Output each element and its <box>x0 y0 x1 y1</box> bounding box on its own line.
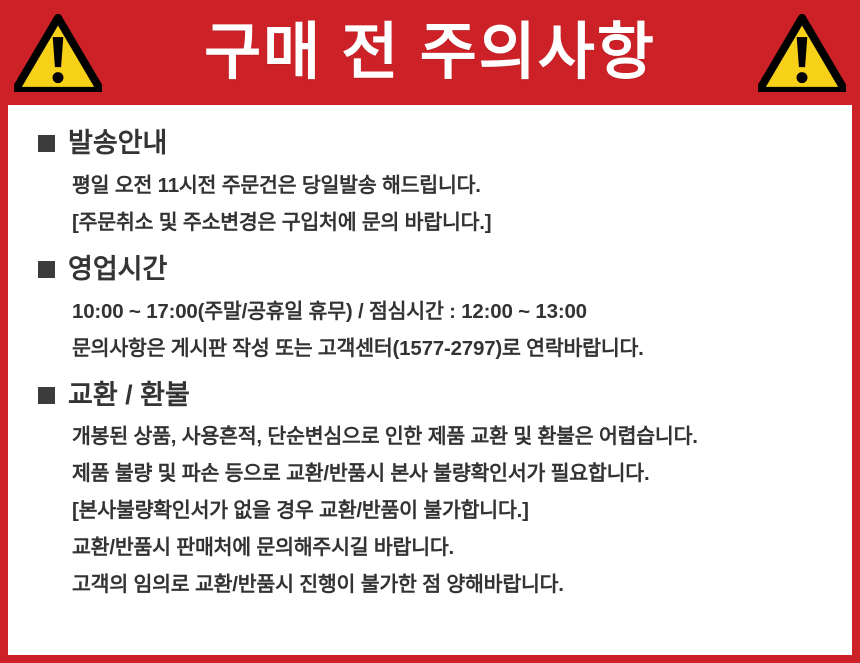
notice-line: 고객의 임의로 교환/반품시 진행이 불가한 점 양해바랍니다. <box>72 566 822 603</box>
section-exchange-refund: 교환 / 환불 개봉된 상품, 사용흔적, 단순변심으로 인한 제품 교환 및 … <box>38 379 822 604</box>
notice-line: 평일 오전 11시전 주문건은 당일발송 해드립니다. <box>72 167 822 204</box>
section-shipping: 발송안내 평일 오전 11시전 주문건은 당일발송 해드립니다. [주문취소 및… <box>38 127 822 241</box>
notice-line: 개봉된 상품, 사용흔적, 단순변심으로 인한 제품 교환 및 환불은 어렵습니… <box>72 418 822 455</box>
section-lines-shipping: 평일 오전 11시전 주문건은 당일발송 해드립니다. [주문취소 및 주소변경… <box>72 167 822 241</box>
section-title-business-hours: 영업시간 <box>68 253 167 287</box>
square-bullet-icon <box>38 387 55 404</box>
notice-line: 제품 불량 및 파손 등으로 교환/반품시 본사 불량확인서가 필요합니다. <box>72 455 822 492</box>
warning-triangle-icon <box>14 14 102 92</box>
warning-triangle-icon <box>758 14 846 92</box>
square-bullet-icon <box>38 135 55 152</box>
notice-line: [주문취소 및 주소변경은 구입처에 문의 바랍니다.] <box>72 204 822 241</box>
section-title-shipping: 발송안내 <box>68 127 167 161</box>
purchase-notice-banner: 구매 전 주의사항 발송안내 평일 오전 11시전 주문건은 당일발송 해드립니… <box>0 0 860 663</box>
section-lines-business-hours: 10:00 ~ 17:00(주말/공휴일 휴무) / 점심시간 : 12:00 … <box>72 293 822 367</box>
section-heading-shipping: 발송안내 <box>38 127 822 161</box>
section-business-hours: 영업시간 10:00 ~ 17:00(주말/공휴일 휴무) / 점심시간 : 1… <box>38 253 822 367</box>
notice-line: [본사불량확인서가 없을 경우 교환/반품이 불가합니다.] <box>72 492 822 529</box>
section-title-exchange-refund: 교환 / 환불 <box>68 379 190 413</box>
notice-line: 10:00 ~ 17:00(주말/공휴일 휴무) / 점심시간 : 12:00 … <box>72 293 822 330</box>
square-bullet-icon <box>38 261 55 278</box>
section-heading-exchange-refund: 교환 / 환불 <box>38 379 822 413</box>
notice-line: 교환/반품시 판매처에 문의해주시길 바랍니다. <box>72 529 822 566</box>
section-heading-business-hours: 영업시간 <box>38 253 822 287</box>
section-lines-exchange-refund: 개봉된 상품, 사용흔적, 단순변심으로 인한 제품 교환 및 환불은 어렵습니… <box>72 418 822 603</box>
notice-content: 발송안내 평일 오전 11시전 주문건은 당일발송 해드립니다. [주문취소 및… <box>8 105 852 655</box>
banner-header: 구매 전 주의사항 <box>0 0 860 105</box>
page-title: 구매 전 주의사항 <box>102 22 758 84</box>
notice-line: 문의사항은 게시판 작성 또는 고객센터(1577-2797)로 연락바랍니다. <box>72 330 822 367</box>
